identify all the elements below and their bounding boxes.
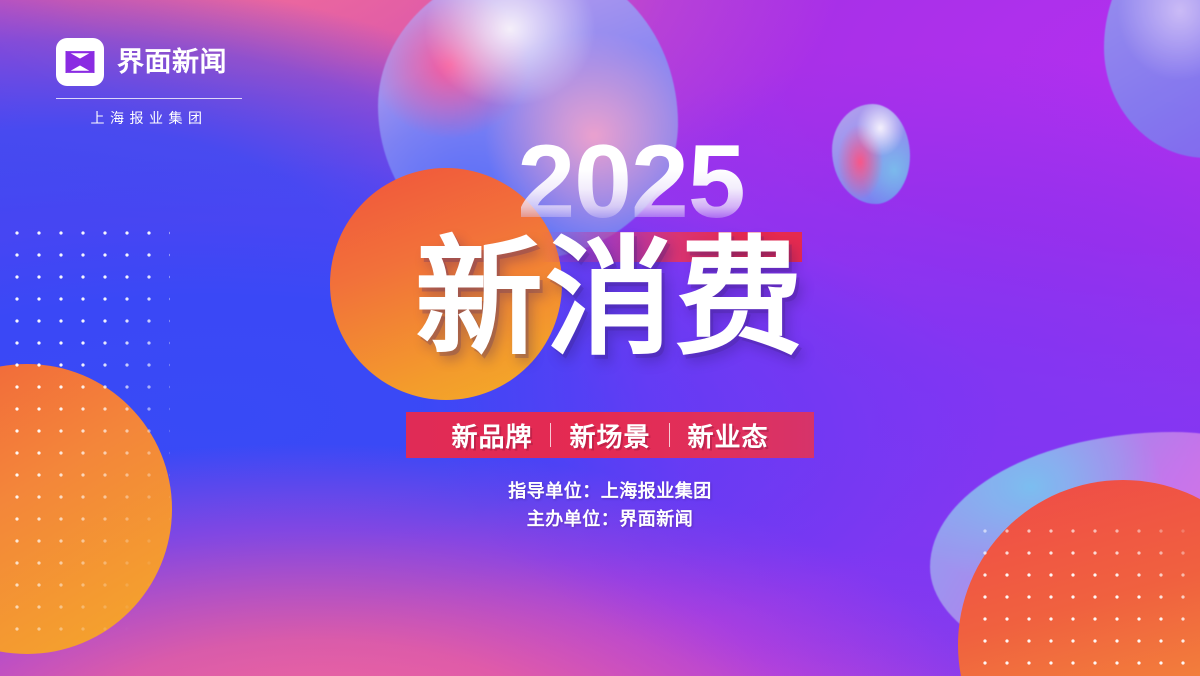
logo-divider-rule bbox=[56, 98, 242, 99]
jiemian-bowtie-icon bbox=[56, 38, 104, 86]
logo-row: 界面新闻 bbox=[56, 38, 242, 86]
decorative-dot-grid-left bbox=[6, 222, 170, 642]
poster-canvas: 界面新闻 上海报业集团 2025 新消费 新品牌 新场景 新业态 指导单位：上海… bbox=[0, 0, 1200, 676]
decorative-circle-orange-center bbox=[330, 168, 562, 400]
brand-logo-lockup[interactable]: 界面新闻 上海报业集团 bbox=[56, 38, 242, 128]
logo-parent-org: 上海报业集团 bbox=[56, 108, 242, 128]
logo-wordmark: 界面新闻 bbox=[117, 49, 227, 76]
decorative-dot-grid-bottomright bbox=[974, 520, 1200, 676]
